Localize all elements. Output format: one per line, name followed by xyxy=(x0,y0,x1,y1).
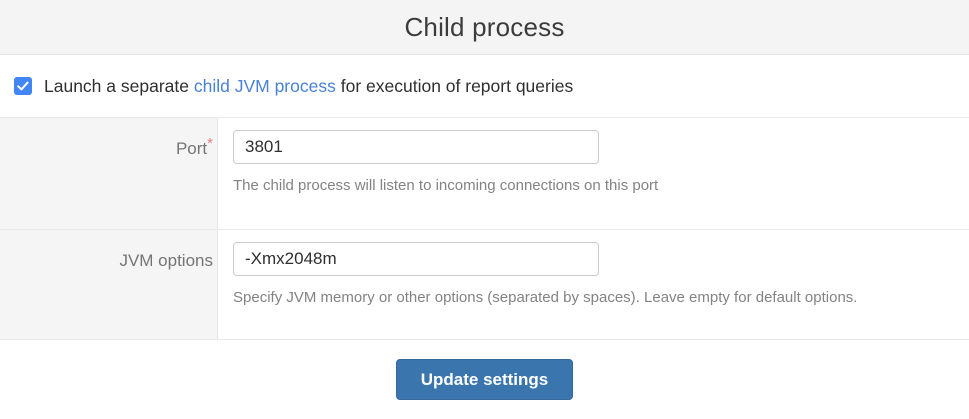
label-text-before: Launch a separate xyxy=(44,76,189,96)
child-process-settings-panel: Child process Launch a separate child JV… xyxy=(0,0,969,419)
port-help-text: The child process will listen to incomin… xyxy=(233,177,969,194)
port-input[interactable] xyxy=(233,130,599,164)
port-field-cell: The child process will listen to incomin… xyxy=(218,118,969,229)
check-icon xyxy=(16,79,30,93)
launch-child-jvm-label: Launch a separate child JVM process for … xyxy=(44,76,573,97)
jvm-options-help-text: Specify JVM memory or other options (sep… xyxy=(233,289,969,306)
form-row-port: Port* The child process will listen to i… xyxy=(0,118,969,230)
port-label-text: Port xyxy=(176,139,207,158)
page-title: Child process xyxy=(404,14,564,40)
port-label: Port* xyxy=(176,138,213,229)
child-jvm-process-link[interactable]: child JVM process xyxy=(194,76,336,96)
jvm-options-label: JVM options xyxy=(119,250,213,339)
jvm-options-label-text: JVM options xyxy=(119,251,213,270)
update-settings-button[interactable]: Update settings xyxy=(396,359,574,400)
launch-child-jvm-row[interactable]: Launch a separate child JVM process for … xyxy=(0,55,969,118)
label-text-after: for execution of report queries xyxy=(341,76,574,96)
form-row-jvm-options: JVM options Specify JVM memory or other … xyxy=(0,230,969,340)
jvm-options-field-cell: Specify JVM memory or other options (sep… xyxy=(218,230,969,339)
required-asterisk: * xyxy=(207,135,213,152)
port-label-cell: Port* xyxy=(0,118,218,229)
jvm-options-label-cell: JVM options xyxy=(0,230,218,339)
launch-child-jvm-checkbox[interactable] xyxy=(14,77,32,95)
jvm-options-input[interactable] xyxy=(233,242,599,276)
panel-footer: Update settings xyxy=(0,340,969,419)
panel-header: Child process xyxy=(0,0,969,55)
